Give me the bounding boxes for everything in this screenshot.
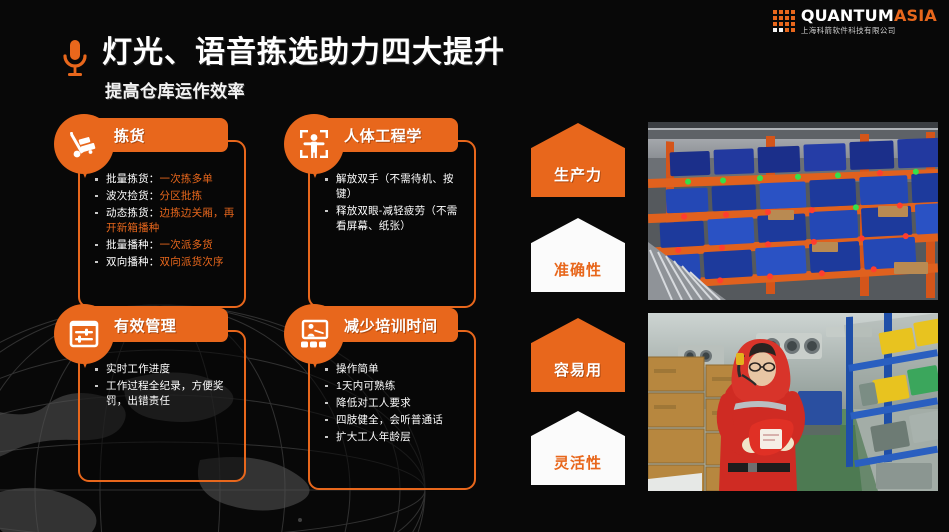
bullet-item: 批量播种：一次派多货 [94, 238, 236, 253]
bullet-text: 实时工作进度 [106, 363, 170, 375]
photo-cold-storage-worker [648, 313, 938, 491]
hand-truck-icon [54, 114, 114, 174]
logo-grid-icon [773, 10, 795, 32]
bullet-text: 降低对工人要求 [336, 397, 411, 409]
bullet-text: 操作简单 [336, 363, 379, 375]
bullet-item: 动态拣货：边拣边关厢，再开新箱播种 [94, 206, 236, 236]
page-title: 灯光、语音拣选助力四大提升 [102, 36, 505, 70]
benefit-banner-productivity[interactable]: 生产力 [531, 123, 625, 197]
logo-wordmark: QUANTUMASIA [801, 8, 937, 24]
card-ergonomics-title: 人体工程学 [344, 125, 422, 146]
training-classroom-icon [284, 304, 344, 364]
card-ergonomics-bullets: 解放双手（不需待机、按键）释放双眼-减轻疲劳（不需看屏幕、纸张） [324, 172, 466, 234]
bullet-item: 实时工作进度 [94, 362, 236, 377]
bullet-text-highlight: 双向派货次序 [160, 256, 224, 268]
photo-warehouse-pick-to-light [648, 122, 938, 300]
bullet-text: 批量拣货： [106, 173, 160, 185]
bullet-text: 四肢健全，会听普通话 [336, 414, 443, 426]
bullet-text-highlight: 一次派多货 [160, 239, 214, 251]
bullet-item: 波次捡货：分区批拣 [94, 189, 236, 204]
bullet-text: 扩大工人年龄层 [336, 431, 411, 443]
card-picking-title: 拣货 [114, 125, 145, 146]
bullet-item: 扩大工人年龄层 [324, 430, 466, 445]
page-subtitle: 提高仓库运作效率 [105, 77, 505, 102]
bullet-text: 解放双手（不需待机、按键） [336, 173, 454, 200]
bullet-item: 双向播种：双向派货次序 [94, 255, 236, 270]
benefit-label-1: 准确性 [554, 259, 602, 280]
card-training-bullets: 操作简单1天内可熟练降低对工人要求四肢健全，会听普通话扩大工人年龄层 [324, 362, 466, 445]
microphone-icon [62, 38, 88, 82]
logo-word-accent: ASIA [894, 6, 937, 25]
ergonomics-person-icon [284, 114, 344, 174]
bullet-item: 工作过程全纪录，方便奖罚，出错责任 [94, 379, 236, 409]
bullet-text-highlight: 分区批拣 [160, 190, 203, 202]
benefit-banner-ease-of-use[interactable]: 容易用 [531, 318, 625, 392]
slide-root: QUANTUMASIA 上海科箭软件科技有限公司 灯光、语音拣选助力四大提升 提… [0, 0, 949, 532]
bullet-item: 操作简单 [324, 362, 466, 377]
card-management-bullets: 实时工作进度工作过程全纪录，方便奖罚，出错责任 [94, 362, 236, 409]
bullet-text: 动态拣货： [106, 207, 160, 219]
logo-word-main: QUANTUM [801, 6, 894, 25]
bullet-text: 释放双眼-减轻疲劳（不需看屏幕、纸张） [336, 205, 457, 232]
company-logo: QUANTUMASIA 上海科箭软件科技有限公司 [773, 8, 937, 35]
bullet-item: 解放双手（不需待机、按键） [324, 172, 466, 202]
bullet-item: 降低对工人要求 [324, 396, 466, 411]
benefit-label-3: 灵活性 [554, 452, 602, 473]
slide-title-row: 灯光、语音拣选助力四大提升 提高仓库运作效率 [62, 36, 505, 102]
benefit-label-0: 生产力 [554, 164, 602, 185]
bullet-item: 释放双眼-减轻疲劳（不需看屏幕、纸张） [324, 204, 466, 234]
card-management-title: 有效管理 [114, 315, 176, 336]
benefit-banner-accuracy[interactable]: 准确性 [531, 218, 625, 292]
bullet-item: 四肢健全，会听普通话 [324, 413, 466, 428]
logo-subtitle: 上海科箭软件科技有限公司 [801, 27, 937, 35]
bullet-item: 1天内可熟练 [324, 379, 466, 394]
benefit-banner-flexibility[interactable]: 灵活性 [531, 411, 625, 485]
card-picking-bullets: 批量拣货：一次拣多单波次捡货：分区批拣动态拣货：边拣边关厢，再开新箱播种批量播种… [94, 172, 236, 269]
sliders-settings-icon [54, 304, 114, 364]
bullet-text: 批量播种： [106, 239, 160, 251]
bullet-text: 1天内可熟练 [336, 380, 396, 392]
card-training-title: 减少培训时间 [344, 315, 438, 336]
benefit-label-2: 容易用 [554, 359, 602, 380]
bullet-text-highlight: 一次拣多单 [160, 173, 214, 185]
bullet-text: 波次捡货： [106, 190, 160, 202]
bullet-text: 工作过程全纪录，方便奖罚，出错责任 [106, 380, 224, 407]
bullet-item: 批量拣货：一次拣多单 [94, 172, 236, 187]
bullet-text: 双向播种： [106, 256, 160, 268]
